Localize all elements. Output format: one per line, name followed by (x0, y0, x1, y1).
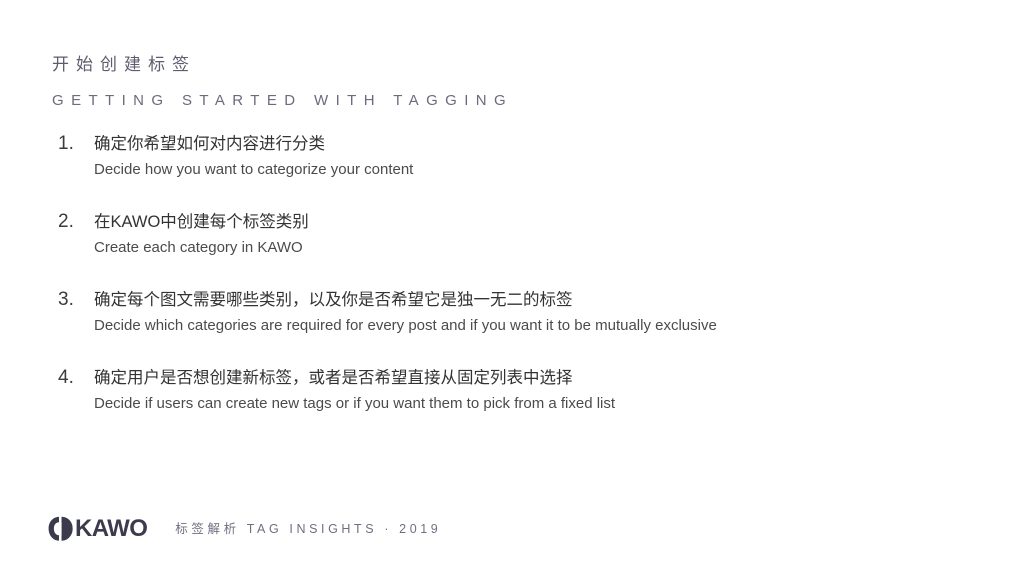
page-title-cn: 开始创建标签 (52, 52, 513, 78)
kawo-logo: KAWO (48, 516, 147, 542)
step-number: 3. (58, 287, 88, 313)
step-title-en: Create each category in KAWO (94, 236, 978, 260)
slide-canvas: 开始创建标签 GETTING STARTED WITH TAGGING 1. 确… (0, 0, 1024, 576)
steps-list: 1. 确定你希望如何对内容进行分类 Decide how you want to… (58, 131, 978, 416)
list-item: 4. 确定用户是否想创建新标签，或者是否希望直接从固定列表中选择 Decide … (58, 365, 978, 416)
slide-footer: KAWO 标签解析 TAG INSIGHTS · 2019 (48, 516, 441, 542)
step-title-cn: 确定你希望如何对内容进行分类 (94, 131, 978, 157)
step-number: 4. (58, 365, 88, 391)
footer-meta: 标签解析 TAG INSIGHTS · 2019 (175, 516, 441, 542)
list-item: 3. 确定每个图文需要哪些类别，以及你是否希望它是独一无二的标签 Decide … (58, 287, 978, 338)
footer-meta-cn: 标签解析 (175, 522, 239, 536)
page-title: 开始创建标签 GETTING STARTED WITH TAGGING (52, 52, 513, 114)
step-number: 1. (58, 131, 88, 157)
footer-year: 2019 (399, 522, 441, 536)
step-title-en: Decide which categories are required for… (94, 314, 978, 338)
step-body: 在KAWO中创建每个标签类别 Create each category in K… (94, 209, 978, 260)
list-item: 2. 在KAWO中创建每个标签类别 Create each category i… (58, 209, 978, 260)
step-title-en: Decide how you want to categorize your c… (94, 158, 978, 182)
step-body: 确定用户是否想创建新标签，或者是否希望直接从固定列表中选择 Decide if … (94, 365, 978, 416)
footer-meta-en: TAG INSIGHTS (247, 522, 377, 536)
step-body: 确定你希望如何对内容进行分类 Decide how you want to ca… (94, 131, 978, 182)
step-body: 确定每个图文需要哪些类别，以及你是否希望它是独一无二的标签 Decide whi… (94, 287, 978, 338)
kawo-logo-mark-icon (48, 516, 74, 542)
kawo-logo-text: KAWO (75, 516, 147, 542)
step-title-cn: 确定每个图文需要哪些类别，以及你是否希望它是独一无二的标签 (94, 287, 978, 313)
step-title-cn: 在KAWO中创建每个标签类别 (94, 209, 978, 235)
list-item: 1. 确定你希望如何对内容进行分类 Decide how you want to… (58, 131, 978, 182)
step-title-en: Decide if users can create new tags or i… (94, 392, 978, 416)
footer-separator: · (384, 522, 392, 536)
page-title-en: GETTING STARTED WITH TAGGING (52, 88, 513, 114)
step-title-cn: 确定用户是否想创建新标签，或者是否希望直接从固定列表中选择 (94, 365, 978, 391)
step-number: 2. (58, 209, 88, 235)
